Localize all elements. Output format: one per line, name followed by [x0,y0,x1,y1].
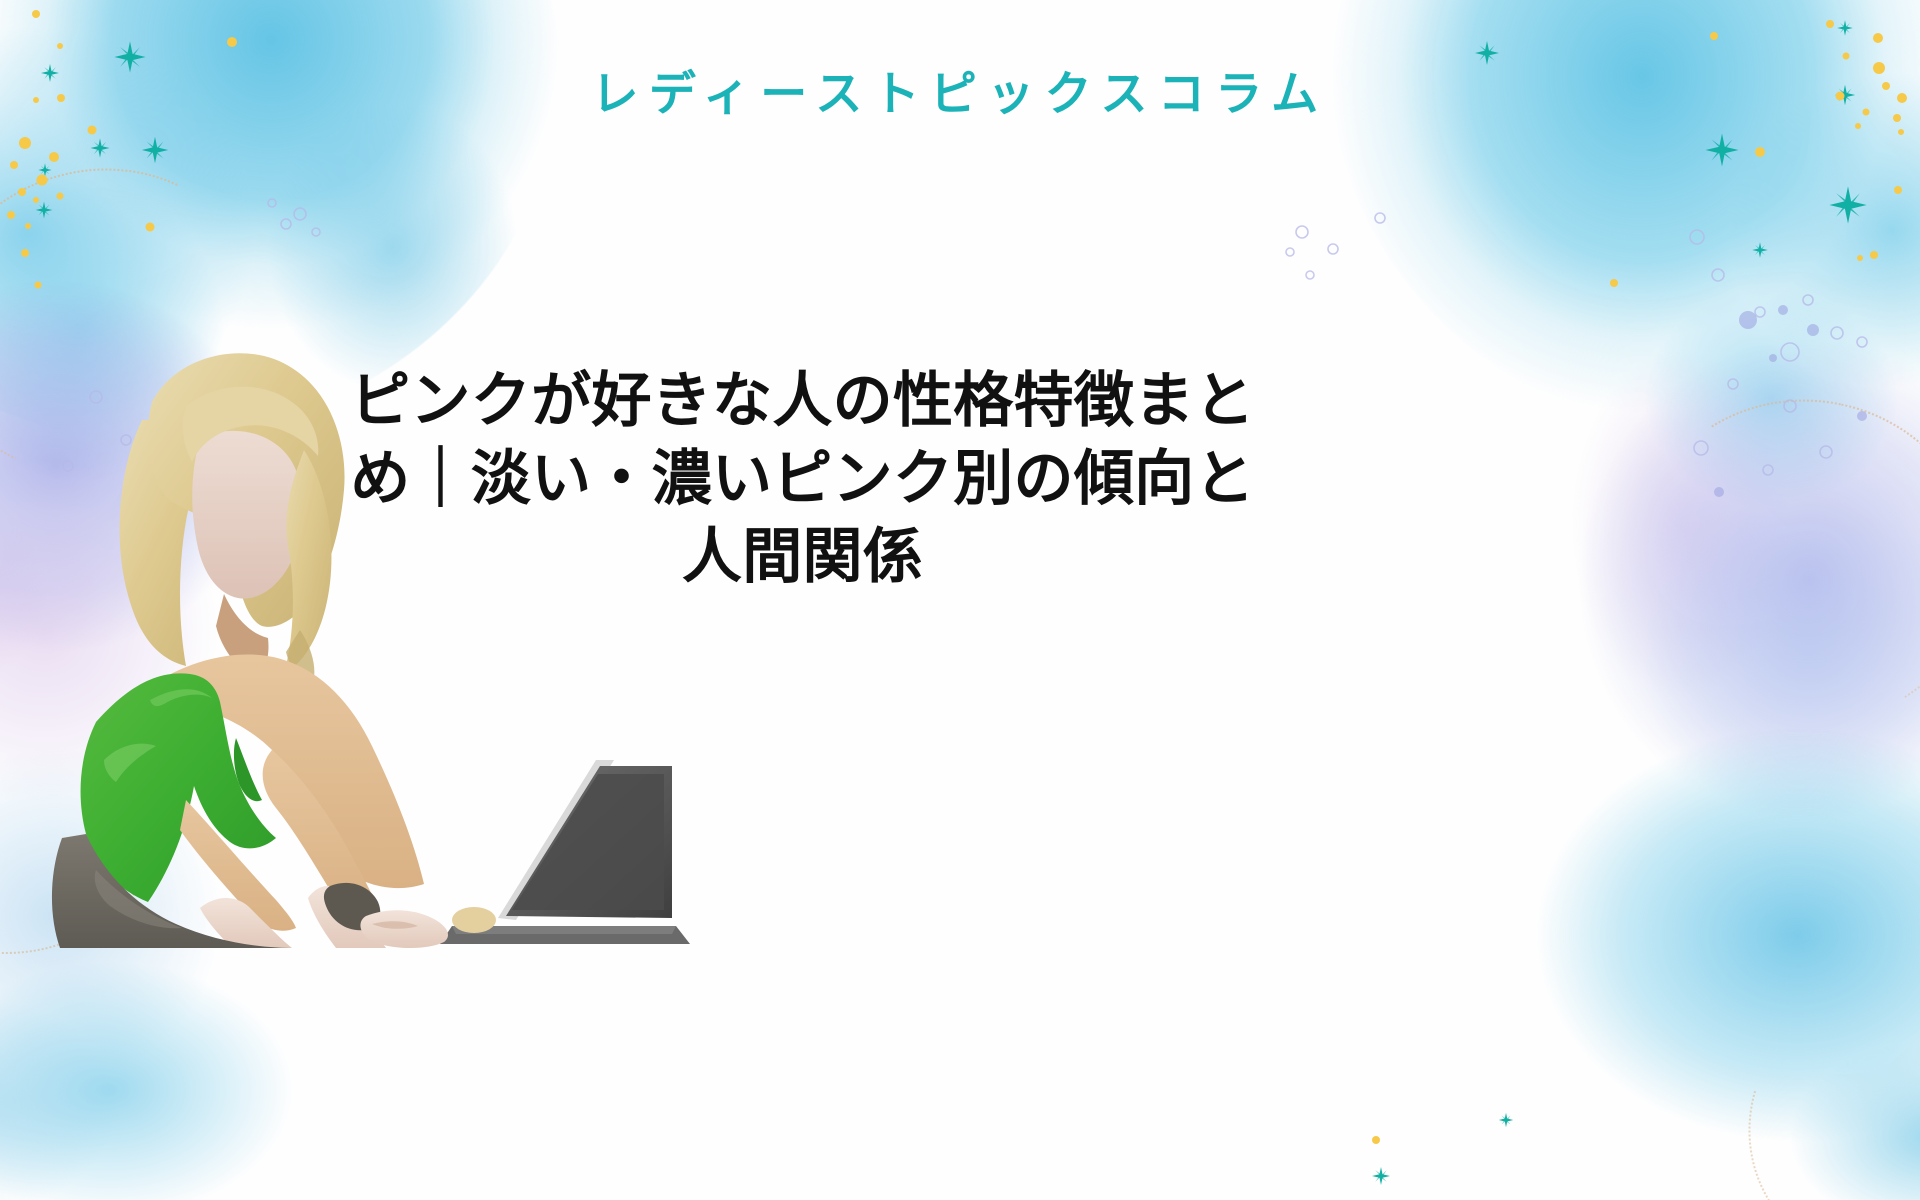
watercolor-blob-bottom-right [1500,700,1920,1200]
watercolor-blob-right-lavender [1600,460,1920,860]
article-title-line-3: 人間関係 [300,518,1305,596]
site-section-header: レディーストピックスコラム [0,68,1920,120]
watercolor-blob-bottom-left-2 [0,930,340,1200]
gold-glitter-arc-3 [1606,368,1920,756]
watercolor-blob-right-purple [1540,300,1920,860]
article-title-line-2: め｜淡い・濃いピンク別の傾向と [300,440,1305,518]
watercolor-blob-top-right-inner [1600,250,1920,580]
laptop-illustration [440,760,690,944]
gold-glitter-arc-4 [1695,923,1920,1200]
watercolor-blob-top-right [1330,0,1920,440]
article-title-line-1: ピンクが好きな人の性格特徴まと [300,362,1305,440]
banner-canvas: レディーストピックスコラム ピンクが好きな人の性格特徴まと め｜淡い・濃いピンク… [0,0,1920,1200]
article-title: ピンクが好きな人の性格特徴まと め｜淡い・濃いピンク別の傾向と 人間関係 [300,362,1305,596]
